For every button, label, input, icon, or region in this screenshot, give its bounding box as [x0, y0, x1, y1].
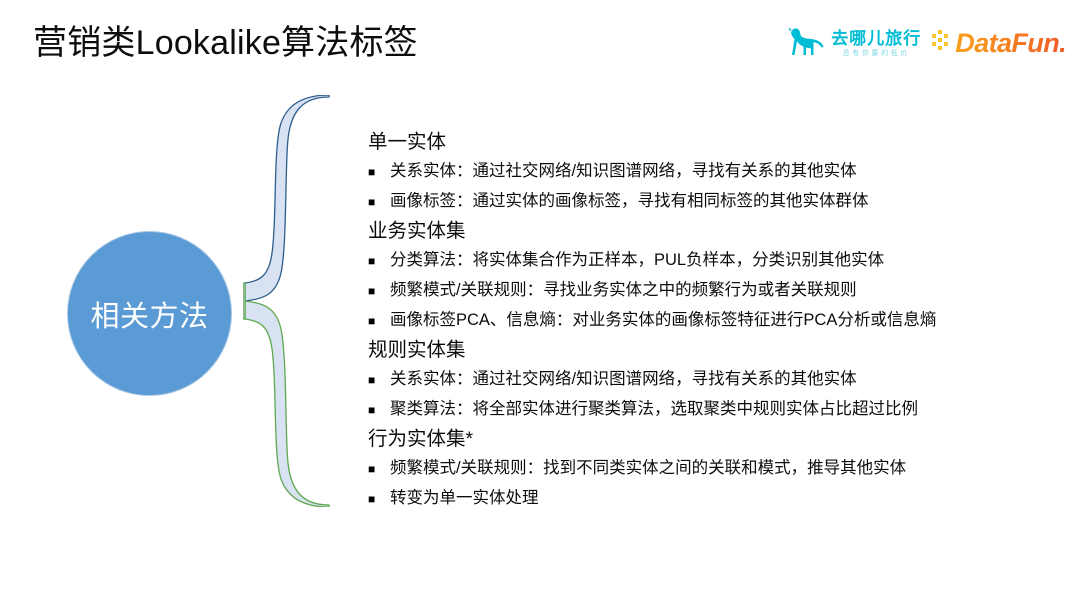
method-group: 业务实体集 ■ 分类算法：将实体集合作为正样本，PUL负样本，分类识别其他实体 … [368, 217, 1058, 336]
square-bullet-icon: ■ [368, 396, 390, 425]
list-item: ■ 分类算法：将实体集合作为正样本，PUL负样本，分类识别其他实体 [368, 246, 1058, 276]
square-bullet-icon: ■ [368, 485, 390, 514]
list-item: ■ 频繁模式/关联规则：找到不同类实体之间的关联和模式，推导其他实体 [368, 454, 1058, 484]
list-item-text: 分类算法：将实体集合作为正样本，PUL负样本，分类识别其他实体 [390, 246, 884, 275]
method-list: 单一实体 ■ 关系实体：通过社交网络/知识图谱网络，寻找有关系的其他实体 ■ 画… [368, 128, 1058, 514]
list-item-text: 关系实体：通过社交网络/知识图谱网络，寻找有关系的其他实体 [390, 157, 857, 186]
group-heading: 行为实体集* [368, 425, 1058, 454]
square-bullet-icon: ■ [368, 307, 390, 336]
datafun-wordmark: DataFun. [955, 28, 1066, 59]
square-bullet-icon: ■ [368, 277, 390, 306]
page-title: 营销类Lookalike算法标签 [33, 20, 418, 66]
list-item: ■ 关系实体：通过社交网络/知识图谱网络，寻找有关系的其他实体 [368, 365, 1058, 395]
list-item-text: 转变为单一实体处理 [390, 484, 539, 513]
square-bullet-icon: ■ [368, 455, 390, 484]
qunar-text-block: 去哪儿旅行 总有你要的低价 [831, 30, 921, 57]
list-item: ■ 转变为单一实体处理 [368, 484, 1058, 514]
group-heading: 业务实体集 [368, 217, 1058, 246]
list-item-text: 频繁模式/关联规则：寻找业务实体之中的频繁行为或者关联规则 [390, 276, 857, 305]
dot-matrix-icon [931, 27, 953, 60]
square-bullet-icon: ■ [368, 188, 390, 217]
datafun-logo: DataFun. [931, 27, 1066, 60]
method-group: 行为实体集* ■ 频繁模式/关联规则：找到不同类实体之间的关联和模式，推导其他实… [368, 425, 1058, 514]
list-item-text: 关系实体：通过社交网络/知识图谱网络，寻找有关系的其他实体 [390, 365, 857, 394]
list-item: ■ 频繁模式/关联规则：寻找业务实体之中的频繁行为或者关联规则 [368, 276, 1058, 306]
curly-brace [243, 95, 363, 507]
square-bullet-icon: ■ [368, 158, 390, 187]
camel-icon [786, 24, 826, 63]
list-item: ■ 画像标签：通过实体的画像标签，寻找有相同标签的其他实体群体 [368, 187, 1058, 217]
logo-bar: 去哪儿旅行 总有你要的低价 DataFun. [786, 24, 1066, 63]
qunar-main-text: 去哪儿旅行 [831, 30, 921, 47]
group-heading: 单一实体 [368, 128, 1058, 157]
square-bullet-icon: ■ [368, 247, 390, 276]
square-bullet-icon: ■ [368, 366, 390, 395]
qunar-sub-text: 总有你要的低价 [843, 50, 910, 57]
list-item: ■ 画像标签PCA、信息熵：对业务实体的画像标签特征进行PCA分析或信息熵 [368, 306, 1058, 336]
method-group: 规则实体集 ■ 关系实体：通过社交网络/知识图谱网络，寻找有关系的其他实体 ■ … [368, 336, 1058, 425]
list-item-text: 频繁模式/关联规则：找到不同类实体之间的关联和模式，推导其他实体 [390, 454, 906, 483]
group-heading: 规则实体集 [368, 336, 1058, 365]
list-item: ■ 关系实体：通过社交网络/知识图谱网络，寻找有关系的其他实体 [368, 157, 1058, 187]
list-item-text: 画像标签：通过实体的画像标签，寻找有相同标签的其他实体群体 [390, 187, 869, 216]
qunar-logo: 去哪儿旅行 总有你要的低价 [786, 24, 921, 63]
central-node-label: 相关方法 [90, 293, 208, 335]
central-node-circle: 相关方法 [67, 231, 232, 396]
method-group: 单一实体 ■ 关系实体：通过社交网络/知识图谱网络，寻找有关系的其他实体 ■ 画… [368, 128, 1058, 217]
list-item-text: 聚类算法：将全部实体进行聚类算法，选取聚类中规则实体占比超过比例 [390, 395, 918, 424]
list-item: ■ 聚类算法：将全部实体进行聚类算法，选取聚类中规则实体占比超过比例 [368, 395, 1058, 425]
list-item-text: 画像标签PCA、信息熵：对业务实体的画像标签特征进行PCA分析或信息熵 [390, 306, 936, 335]
